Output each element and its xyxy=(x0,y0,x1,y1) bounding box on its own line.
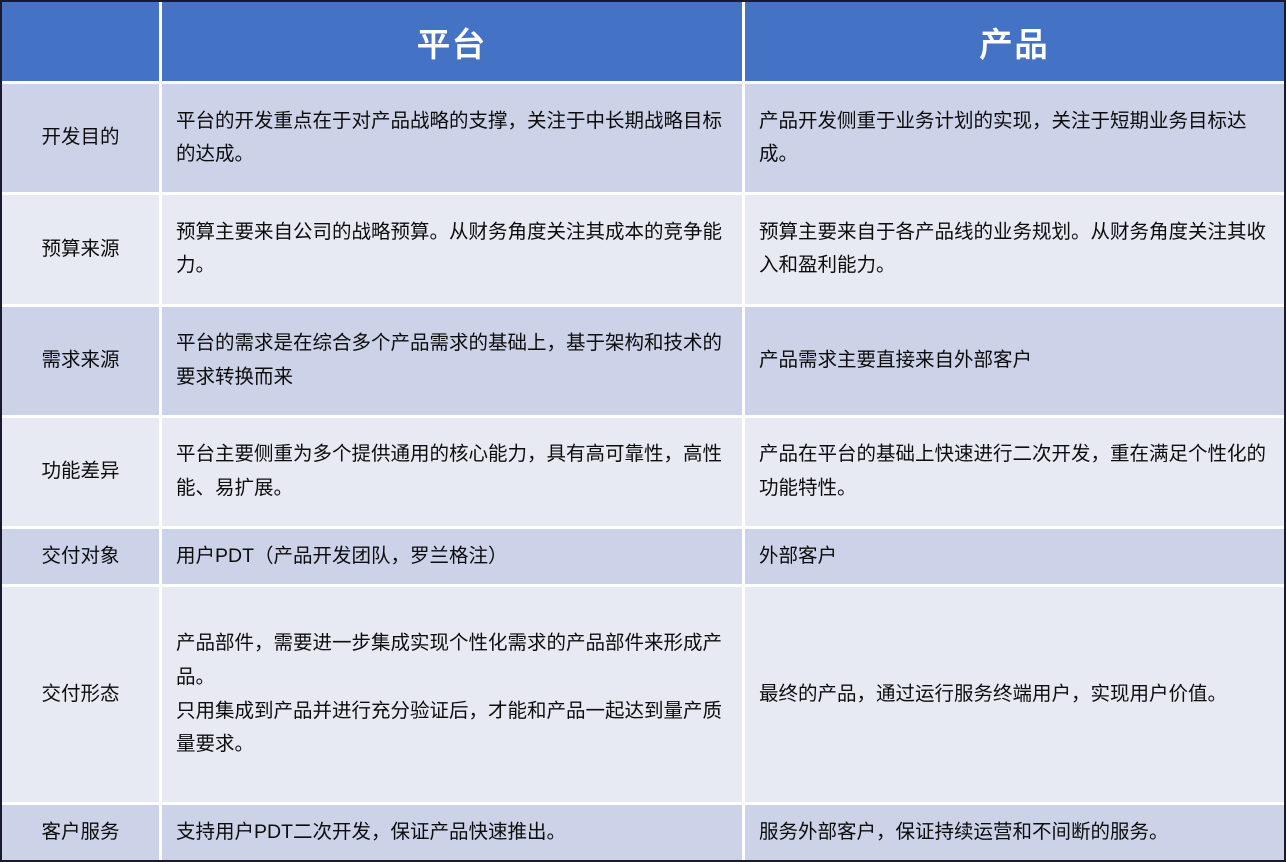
table-row: 功能差异 平台主要侧重为多个提供通用的核心能力，具有高可靠性，高性能、易扩展。 … xyxy=(2,415,1284,526)
table-row: 开发目的 平台的开发重点在于对产品战略的支撑，关注于中长期战略目标的达成。 产品… xyxy=(2,81,1284,192)
table-header: 平台 产品 xyxy=(2,2,1284,81)
cell-platform-budget-source: 预算主要来自公司的战略预算。从财务角度关注其成本的竞争能力。 xyxy=(162,192,745,303)
cell-product-budget-source: 预算主要来自于各产品线的业务规划。从财务角度关注其收入和盈利能力。 xyxy=(745,192,1284,303)
row-label-delivery-target: 交付对象 xyxy=(2,526,162,584)
cell-text: 平台主要侧重为多个提供通用的核心能力，具有高可靠性，高性能、易扩展。 xyxy=(176,438,728,505)
cell-platform-delivery-form: 产品部件，需要进一步集成实现个性化需求的产品部件来形成产品。 只用集成到产品并进… xyxy=(162,584,745,802)
header-cell-platform: 平台 xyxy=(162,2,745,81)
cell-platform-function-difference: 平台主要侧重为多个提供通用的核心能力，具有高可靠性，高性能、易扩展。 xyxy=(162,415,745,526)
cell-text: 产品在平台的基础上快速进行二次开发，重在满足个性化的功能特性。 xyxy=(759,438,1270,505)
cell-product-requirement-source: 产品需求主要直接来自外部客户 xyxy=(745,304,1284,415)
cell-text: 平台的开发重点在于对产品战略的支撑，关注于中长期战略目标的达成。 xyxy=(176,105,728,172)
cell-text: 产品部件，需要进一步集成实现个性化需求的产品部件来形成产品。 只用集成到产品并进… xyxy=(176,627,728,761)
cell-platform-development-purpose: 平台的开发重点在于对产品战略的支撑，关注于中长期战略目标的达成。 xyxy=(162,81,745,192)
cell-text: 预算主要来自于各产品线的业务规划。从财务角度关注其收入和盈利能力。 xyxy=(759,216,1270,283)
table-row: 交付形态 产品部件，需要进一步集成实现个性化需求的产品部件来形成产品。 只用集成… xyxy=(2,584,1284,802)
cell-product-delivery-target: 外部客户 xyxy=(745,526,1284,584)
table-row: 客户服务 支持用户PDT二次开发，保证产品快速推出。 服务外部客户，保证持续运营… xyxy=(2,802,1284,860)
table-row: 交付对象 用户PDT（产品开发团队，罗兰格注） 外部客户 xyxy=(2,526,1284,584)
cell-product-delivery-form: 最终的产品，通过运行服务终端用户，实现用户价值。 xyxy=(745,584,1284,802)
row-label-development-purpose: 开发目的 xyxy=(2,81,162,192)
cell-text: 产品需求主要直接来自外部客户 xyxy=(759,344,1270,378)
cell-text: 服务外部客户，保证持续运营和不间断的服务。 xyxy=(759,816,1270,850)
platform-vs-product-table: 平台 产品 开发目的 平台的开发重点在于对产品战略的支撑，关注于中长期战略目标的… xyxy=(2,2,1284,860)
table-body: 开发目的 平台的开发重点在于对产品战略的支撑，关注于中长期战略目标的达成。 产品… xyxy=(2,81,1284,860)
cell-text: 预算主要来自公司的战略预算。从财务角度关注其成本的竞争能力。 xyxy=(176,216,728,283)
table-row: 预算来源 预算主要来自公司的战略预算。从财务角度关注其成本的竞争能力。 预算主要… xyxy=(2,192,1284,303)
row-label-budget-source: 预算来源 xyxy=(2,192,162,303)
cell-text: 平台的需求是在综合多个产品需求的基础上，基于架构和技术的要求转换而来 xyxy=(176,327,728,394)
header-row: 平台 产品 xyxy=(2,2,1284,81)
cell-text: 产品开发侧重于业务计划的实现，关注于短期业务目标达成。 xyxy=(759,105,1270,172)
row-label-customer-service: 客户服务 xyxy=(2,802,162,860)
cell-platform-delivery-target: 用户PDT（产品开发团队，罗兰格注） xyxy=(162,526,745,584)
cell-product-customer-service: 服务外部客户，保证持续运营和不间断的服务。 xyxy=(745,802,1284,860)
cell-text: 外部客户 xyxy=(759,540,1270,574)
cell-product-function-difference: 产品在平台的基础上快速进行二次开发，重在满足个性化的功能特性。 xyxy=(745,415,1284,526)
header-cell-dimension xyxy=(2,2,162,81)
row-label-function-difference: 功能差异 xyxy=(2,415,162,526)
row-label-requirement-source: 需求来源 xyxy=(2,304,162,415)
cell-product-development-purpose: 产品开发侧重于业务计划的实现，关注于短期业务目标达成。 xyxy=(745,81,1284,192)
cell-text: 用户PDT（产品开发团队，罗兰格注） xyxy=(176,540,728,574)
table-row: 需求来源 平台的需求是在综合多个产品需求的基础上，基于架构和技术的要求转换而来 … xyxy=(2,304,1284,415)
header-cell-product: 产品 xyxy=(745,2,1284,81)
cell-platform-customer-service: 支持用户PDT二次开发，保证产品快速推出。 xyxy=(162,802,745,860)
comparison-table-container: 平台 产品 开发目的 平台的开发重点在于对产品战略的支撑，关注于中长期战略目标的… xyxy=(0,0,1286,862)
row-label-delivery-form: 交付形态 xyxy=(2,584,162,802)
cell-text: 支持用户PDT二次开发，保证产品快速推出。 xyxy=(176,816,728,850)
cell-platform-requirement-source: 平台的需求是在综合多个产品需求的基础上，基于架构和技术的要求转换而来 xyxy=(162,304,745,415)
cell-text: 最终的产品，通过运行服务终端用户，实现用户价值。 xyxy=(759,678,1270,712)
